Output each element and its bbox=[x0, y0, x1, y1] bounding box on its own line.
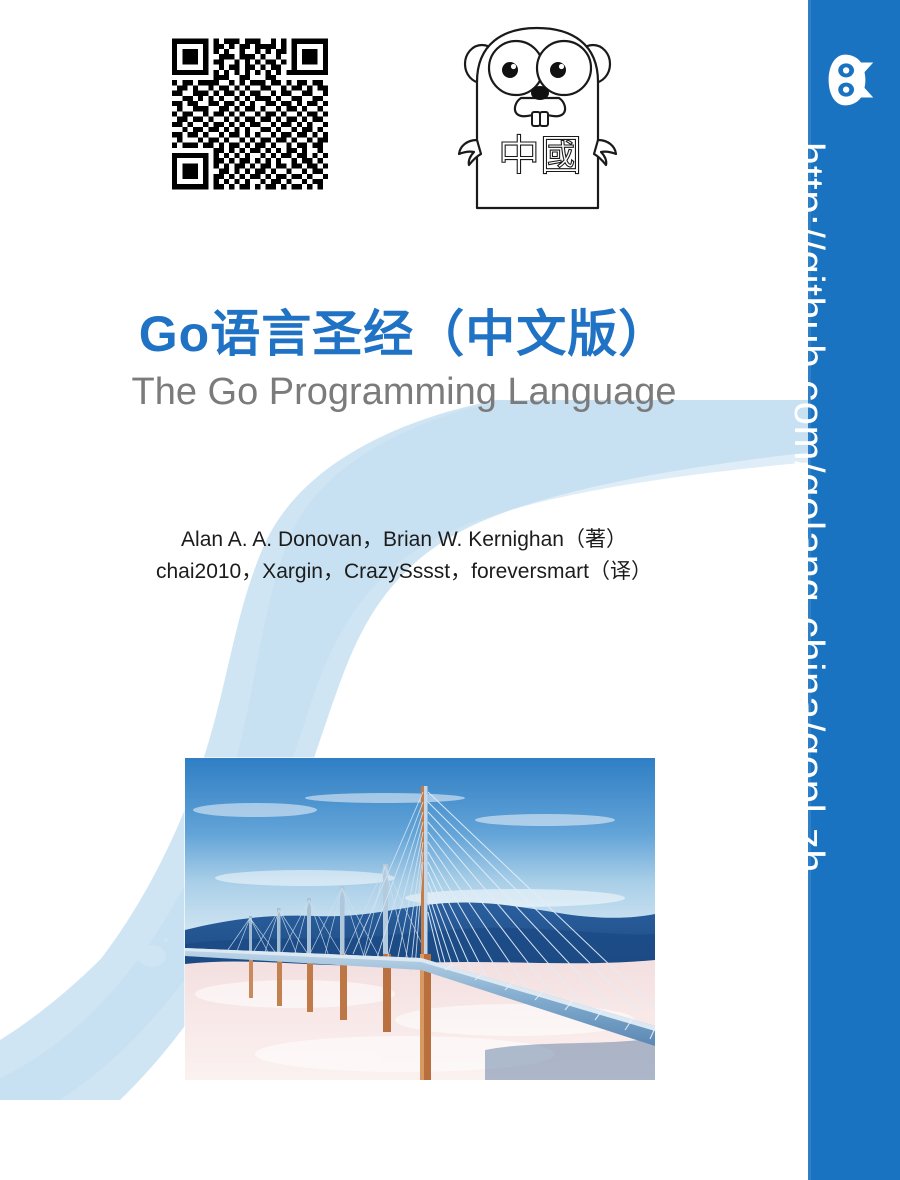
author-block: Alan A. A. Donovan，Brian W. Kernighan（著）… bbox=[0, 524, 808, 588]
page-subtitle-english: The Go Programming Language bbox=[0, 370, 808, 416]
github-spine: http://github.com/golang-china/gopl-zh bbox=[808, 0, 900, 1180]
go-gopher-mascot: 中國 bbox=[455, 22, 620, 212]
title-block: Go语言圣经（中文版） The Go Programming Language bbox=[0, 306, 808, 416]
millau-viaduct-bridge-photo bbox=[185, 758, 655, 1080]
book-cover: 中國 Go语言圣经（中文版） The Go Programming Langua… bbox=[0, 0, 900, 1180]
author-line-original: Alan A. A. Donovan，Brian W. Kernighan（著） bbox=[0, 524, 808, 556]
author-line-translators: chai2010，Xargin，CrazySssst，foreversmart（… bbox=[0, 556, 808, 588]
page-title-chinese: Go语言圣经（中文版） bbox=[0, 306, 808, 362]
gopher-body-text: 中國 bbox=[498, 131, 582, 180]
qr-code[interactable] bbox=[172, 26, 328, 202]
github-url-text[interactable]: http://github.com/golang-china/gopl-zh bbox=[785, 142, 833, 873]
github-octocat-icon bbox=[826, 52, 882, 108]
